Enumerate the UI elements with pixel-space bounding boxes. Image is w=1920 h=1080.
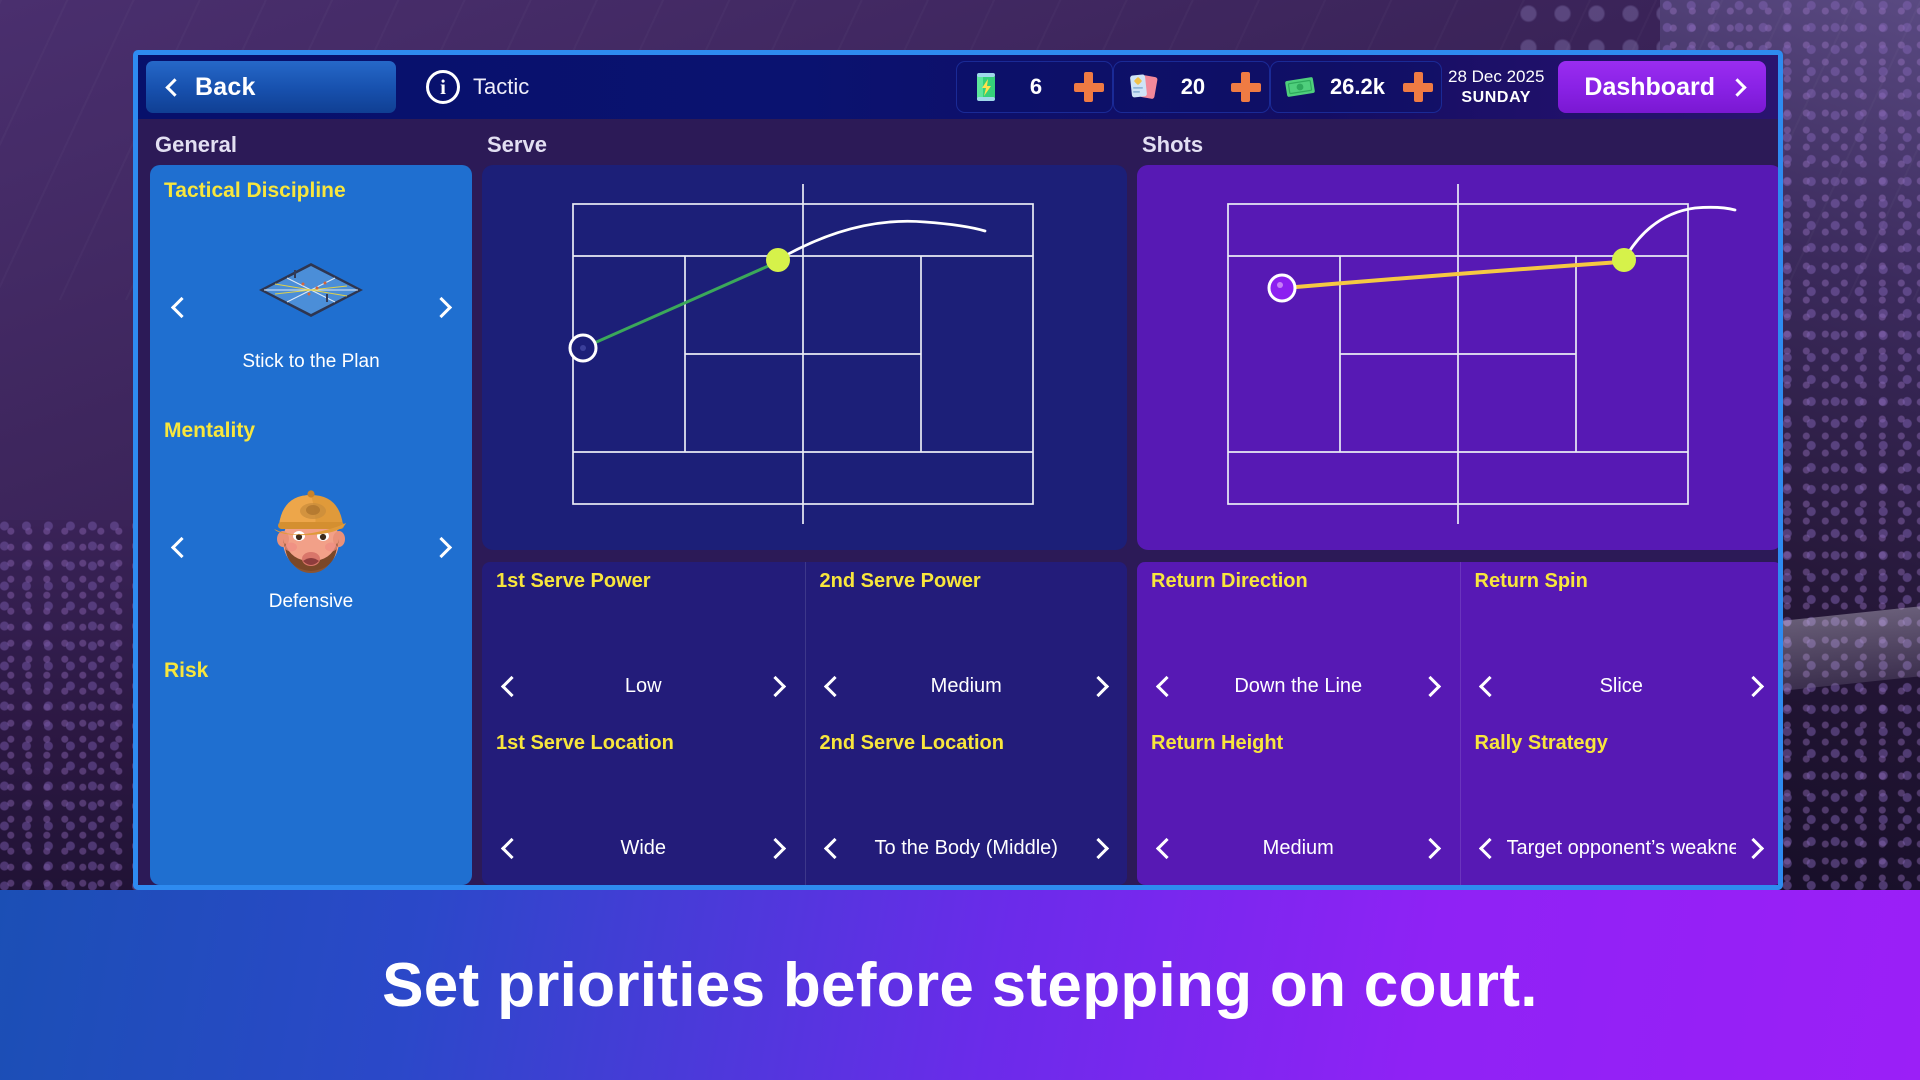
chevron-right-icon — [1742, 676, 1763, 697]
resource-bar: 6 20 26.2k — [956, 61, 1772, 113]
option-next-button[interactable] — [1736, 664, 1770, 710]
option-next-button[interactable] — [1081, 664, 1115, 710]
promo-banner: Set priorities before stepping on court. — [0, 890, 1920, 1080]
chevron-left-icon — [500, 676, 521, 697]
tactical-discipline-next-button[interactable] — [424, 285, 458, 331]
option-label: 1st Serve Location — [482, 732, 805, 755]
option-prev-button[interactable] — [1149, 825, 1183, 871]
chevron-right-icon — [1420, 837, 1441, 858]
resource-money-value: 26.2k — [1330, 74, 1385, 100]
setting-risk: Risk — [150, 645, 472, 885]
serve-column: Serve — [482, 129, 1127, 885]
chevron-left-icon — [824, 837, 845, 858]
option-1st-serve-location: 1st Serve Location Wide — [482, 724, 805, 886]
option-value: Low — [528, 675, 759, 698]
resource-energy[interactable]: 6 — [956, 61, 1113, 113]
resource-money[interactable]: 26.2k — [1270, 61, 1442, 113]
shots-options-grid: Return Direction Down the Line Return Sp… — [1137, 562, 1782, 885]
general-heading: General — [150, 129, 472, 165]
risk-label: Risk — [150, 645, 472, 683]
option-label: Return Spin — [1461, 570, 1783, 593]
chevron-left-icon — [1479, 837, 1500, 858]
setting-tactical-discipline: Tactical Discipline — [150, 165, 472, 405]
page-title: Tactic — [473, 74, 529, 100]
option-value: Slice — [1507, 675, 1737, 698]
tactical-discipline-label: Tactical Discipline — [150, 165, 472, 203]
option-return-height: Return Height Medium — [1137, 724, 1460, 886]
option-next-button[interactable] — [759, 664, 793, 710]
option-label: 2nd Serve Location — [806, 732, 1128, 755]
option-1st-serve-power: 1st Serve Power Low — [482, 562, 805, 724]
chevron-right-icon — [1087, 676, 1108, 697]
option-prev-button[interactable] — [818, 664, 852, 710]
option-next-button[interactable] — [1736, 825, 1770, 871]
shots-court-diagram[interactable] — [1137, 165, 1782, 550]
player-face-cap-icon — [265, 481, 357, 577]
chevron-right-icon — [1420, 676, 1441, 697]
tactic-content: General Tactical Discipline — [138, 119, 1778, 885]
promo-banner-text: Set priorities before stepping on court. — [382, 950, 1538, 1021]
mentality-prev-button[interactable] — [164, 525, 198, 571]
chevron-right-icon — [1728, 78, 1746, 96]
resource-cards[interactable]: 20 — [1113, 61, 1270, 113]
dashboard-button[interactable]: Dashboard — [1558, 61, 1766, 113]
chevron-right-icon — [765, 837, 786, 858]
general-column: General Tactical Discipline — [150, 129, 472, 885]
shots-heading: Shots — [1137, 129, 1782, 165]
option-rally-strategy: Rally Strategy Target opponent’s weaknes… — [1460, 724, 1783, 886]
cards-icon — [1125, 69, 1161, 105]
chevron-right-icon — [1087, 837, 1108, 858]
option-label: 1st Serve Power — [482, 570, 805, 593]
chevron-right-icon — [1742, 837, 1763, 858]
add-money-button[interactable] — [1403, 72, 1433, 102]
option-2nd-serve-power: 2nd Serve Power Medium — [805, 562, 1128, 724]
option-prev-button[interactable] — [818, 825, 852, 871]
option-prev-button[interactable] — [1473, 664, 1507, 710]
chevron-right-icon — [765, 676, 786, 697]
option-prev-button[interactable] — [494, 664, 528, 710]
serve-court-svg — [495, 178, 1115, 538]
option-prev-button[interactable] — [1473, 825, 1507, 871]
mentality-value: Defensive — [198, 591, 424, 613]
option-value: Wide — [528, 837, 759, 860]
date-display: 28 Dec 2025 SUNDAY — [1448, 66, 1544, 107]
date-weekday: SUNDAY — [1448, 88, 1544, 108]
chevron-left-icon — [165, 78, 183, 96]
mentality-label: Mentality — [150, 405, 472, 443]
chevron-left-icon — [170, 297, 191, 318]
option-next-button[interactable] — [1414, 825, 1448, 871]
back-button-label: Back — [195, 73, 256, 102]
tactical-discipline-prev-button[interactable] — [164, 285, 198, 331]
chevron-left-icon — [1155, 676, 1176, 697]
shots-column: Shots — [1137, 129, 1782, 885]
tennis-court-isometric-icon — [256, 250, 366, 328]
option-return-spin: Return Spin Slice — [1460, 562, 1783, 724]
money-cash-icon — [1282, 69, 1318, 105]
option-prev-button[interactable] — [494, 825, 528, 871]
option-label: 2nd Serve Power — [806, 570, 1128, 593]
resource-cards-value: 20 — [1173, 74, 1213, 100]
chevron-right-icon — [430, 297, 451, 318]
option-next-button[interactable] — [759, 825, 793, 871]
mentality-next-button[interactable] — [424, 525, 458, 571]
info-circle-icon[interactable]: i — [426, 70, 460, 104]
top-header-bar: Back i Tactic 6 — [138, 55, 1778, 119]
chevron-left-icon — [824, 676, 845, 697]
serve-options-grid: 1st Serve Power Low 2nd Serve Power Medi… — [482, 562, 1127, 885]
dashboard-button-label: Dashboard — [1584, 73, 1715, 102]
energy-drink-can-icon — [968, 69, 1004, 105]
option-prev-button[interactable] — [1149, 664, 1183, 710]
option-value: Down the Line — [1183, 675, 1414, 698]
option-label: Return Direction — [1137, 570, 1460, 593]
chevron-right-icon — [430, 537, 451, 558]
tactic-screen-frame: Back i Tactic 6 — [133, 50, 1783, 890]
option-value: Medium — [1183, 837, 1414, 860]
option-value: Target opponent’s weakness — [1507, 837, 1737, 860]
chevron-left-icon — [170, 537, 191, 558]
date-day: 28 Dec 2025 — [1448, 66, 1544, 87]
option-label: Rally Strategy — [1461, 732, 1783, 755]
chevron-left-icon — [500, 837, 521, 858]
screen-title-group: i Tactic — [426, 70, 529, 104]
option-label: Return Height — [1137, 732, 1460, 755]
option-next-button[interactable] — [1414, 664, 1448, 710]
tactical-discipline-value: Stick to the Plan — [198, 351, 424, 373]
option-2nd-serve-location: 2nd Serve Location To the Body (Middle) — [805, 724, 1128, 886]
setting-mentality: Mentality — [150, 405, 472, 645]
shots-court-svg — [1150, 178, 1770, 538]
chevron-left-icon — [1479, 676, 1500, 697]
option-value: Medium — [852, 675, 1082, 698]
add-cards-button[interactable] — [1231, 72, 1261, 102]
option-return-direction: Return Direction Down the Line — [1137, 562, 1460, 724]
chevron-left-icon — [1155, 837, 1176, 858]
serve-court-diagram[interactable] — [482, 165, 1127, 550]
add-energy-button[interactable] — [1074, 72, 1104, 102]
back-button[interactable]: Back — [146, 61, 396, 113]
serve-heading: Serve — [482, 129, 1127, 165]
option-value: To the Body (Middle) — [852, 837, 1082, 860]
option-next-button[interactable] — [1081, 825, 1115, 871]
general-panel: Tactical Discipline — [150, 165, 472, 885]
resource-energy-value: 6 — [1016, 74, 1056, 100]
